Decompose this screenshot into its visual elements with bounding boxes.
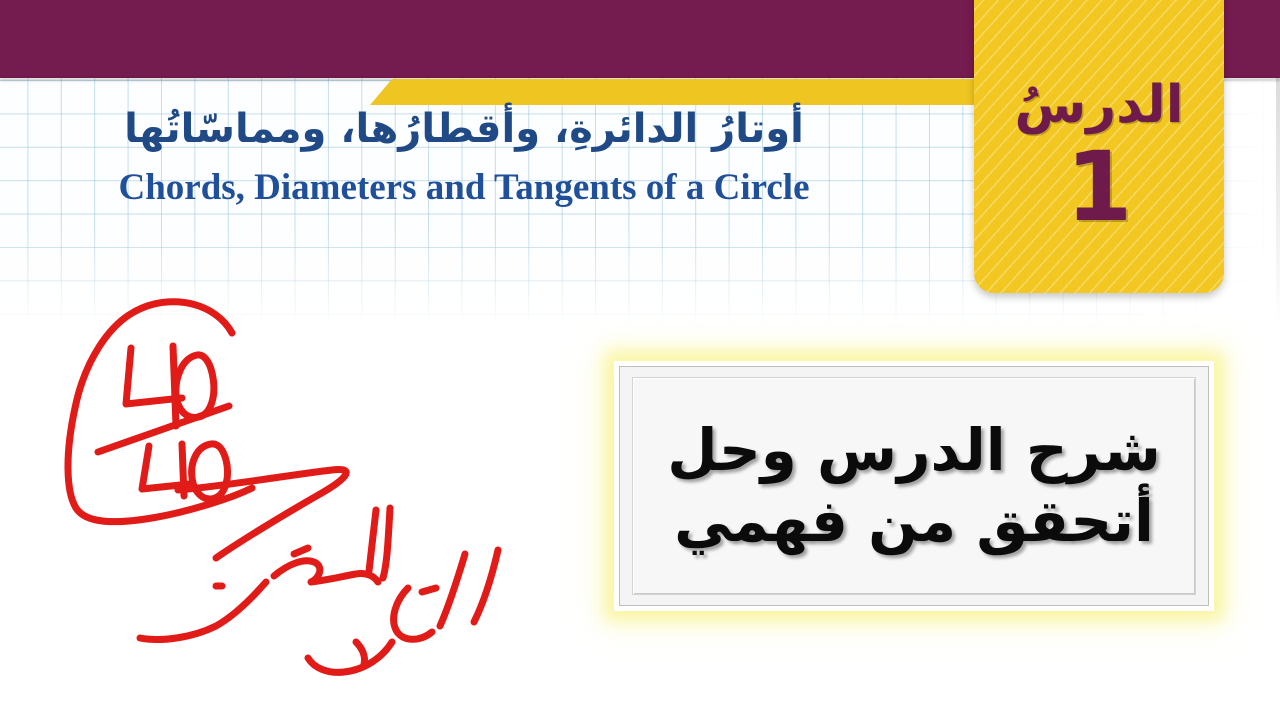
note-word-1-tail (140, 582, 266, 640)
handwriting-annotation: 40 40 الامتحان الثاني (56, 286, 526, 686)
note-word-1-alef (369, 510, 376, 571)
callout-inner-frame: شرح الدرس وحل أتحقق من فهمي (632, 377, 1196, 596)
note-word-1-body (274, 561, 378, 582)
lesson-badge: الدرسُ 1 (974, 0, 1224, 293)
note-word-2-ya-hook (356, 642, 365, 664)
page-right-edge-line (1276, 78, 1280, 328)
sweep-underline-stroke (178, 470, 346, 558)
denominator-zero-stroke (192, 444, 228, 499)
numerator-four-stem (173, 346, 176, 426)
lesson-title-english: Chords, Diameters and Tangents of a Circ… (44, 166, 884, 210)
lesson-title-block: أوتارُ الدائرةِ، وأقطارُها، ومماسّاتُها … (44, 104, 884, 210)
note-word-2-ya-tail (308, 642, 392, 672)
lesson-badge-label: الدرسُ (1014, 78, 1183, 133)
note-word-1-lam (383, 508, 390, 578)
denominator-four-stem (182, 444, 184, 496)
note-word-2-tha-bowl (394, 588, 432, 639)
callout-box[interactable]: شرح الدرس وحل أتحقق من فهمي (619, 366, 1209, 606)
denominator-four-stroke (142, 446, 190, 489)
handwriting-strokes-svg (56, 286, 526, 686)
fraction-bar-stroke (98, 406, 229, 452)
lesson-title-arabic: أوتارُ الدائرةِ، وأقطارُها، ومماسّاتُها (44, 104, 884, 154)
note-word-2-alef (474, 550, 498, 622)
lesson-badge-number: 1 (1066, 139, 1133, 235)
bracket-stroke (68, 302, 252, 522)
callout-line-2: أتحقق من فهمي (674, 486, 1154, 557)
note-word-1-hamza-mark (294, 548, 308, 554)
note-word-2-lam (440, 554, 465, 626)
numerator-four-stroke (126, 348, 182, 404)
callout-line-1: شرح الدرس وحل (667, 415, 1161, 486)
numerator-zero-stroke (176, 355, 214, 418)
note-word-2-tha-mark (422, 588, 436, 592)
lesson-cover-page: الدرسُ 1 أوتارُ الدائرةِ، وأقطارُها، ومم… (0, 0, 1280, 720)
